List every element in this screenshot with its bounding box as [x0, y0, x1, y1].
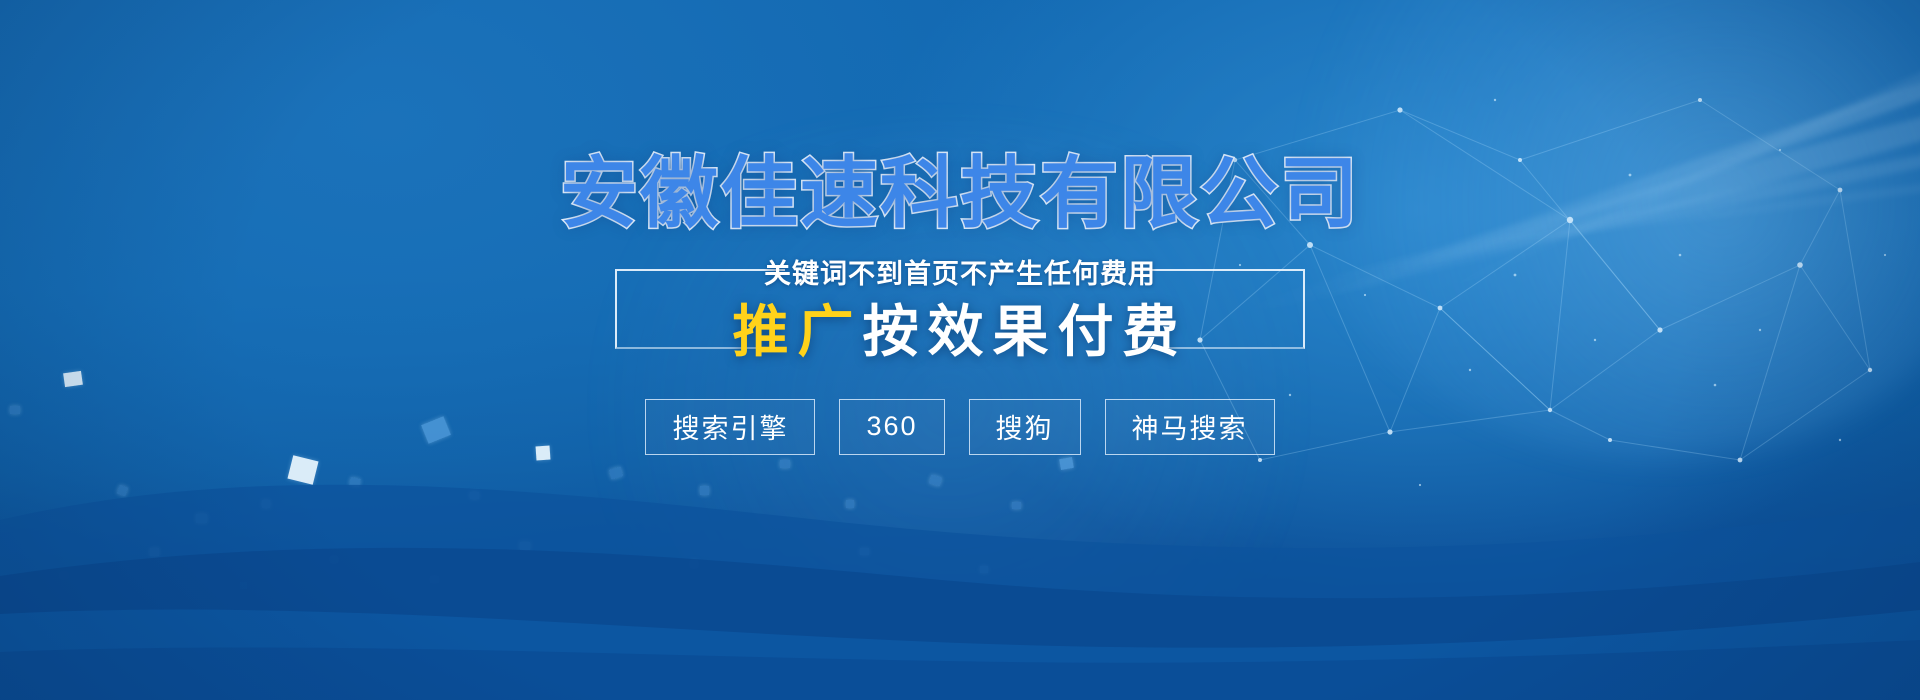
- engine-button-search[interactable]: 搜索引擎: [645, 399, 815, 455]
- company-title: 安徽佳速科技有限公司: [560, 152, 1360, 235]
- search-engine-list: 搜索引擎 360 搜狗 神马搜索: [645, 399, 1274, 455]
- engine-button-label: 搜狗: [996, 407, 1054, 446]
- tagline-headline-plain: 按效果付费: [863, 300, 1188, 363]
- engine-button-360[interactable]: 360: [839, 399, 944, 455]
- banner-content: 安徽佳速科技有限公司 关键词不到首页不产生任何费用 推广按效果付费 搜索引擎 3…: [0, 0, 1920, 700]
- tagline-block: 关键词不到首页不产生任何费用 推广按效果付费: [615, 257, 1305, 375]
- tagline-headline: 推广按效果付费: [615, 288, 1305, 360]
- tagline-headline-highlight: 推广: [733, 300, 863, 363]
- engine-button-label: 神马搜索: [1132, 407, 1248, 446]
- engine-button-label: 搜索引擎: [672, 407, 788, 446]
- engine-button-label: 360: [866, 411, 917, 442]
- tagline-subtitle: 关键词不到首页不产生任何费用: [615, 257, 1305, 288]
- promo-banner: 安徽佳速科技有限公司 关键词不到首页不产生任何费用 推广按效果付费 搜索引擎 3…: [0, 0, 1920, 700]
- engine-button-sogou[interactable]: 搜狗: [969, 399, 1081, 455]
- engine-button-shenma[interactable]: 神马搜索: [1105, 399, 1275, 455]
